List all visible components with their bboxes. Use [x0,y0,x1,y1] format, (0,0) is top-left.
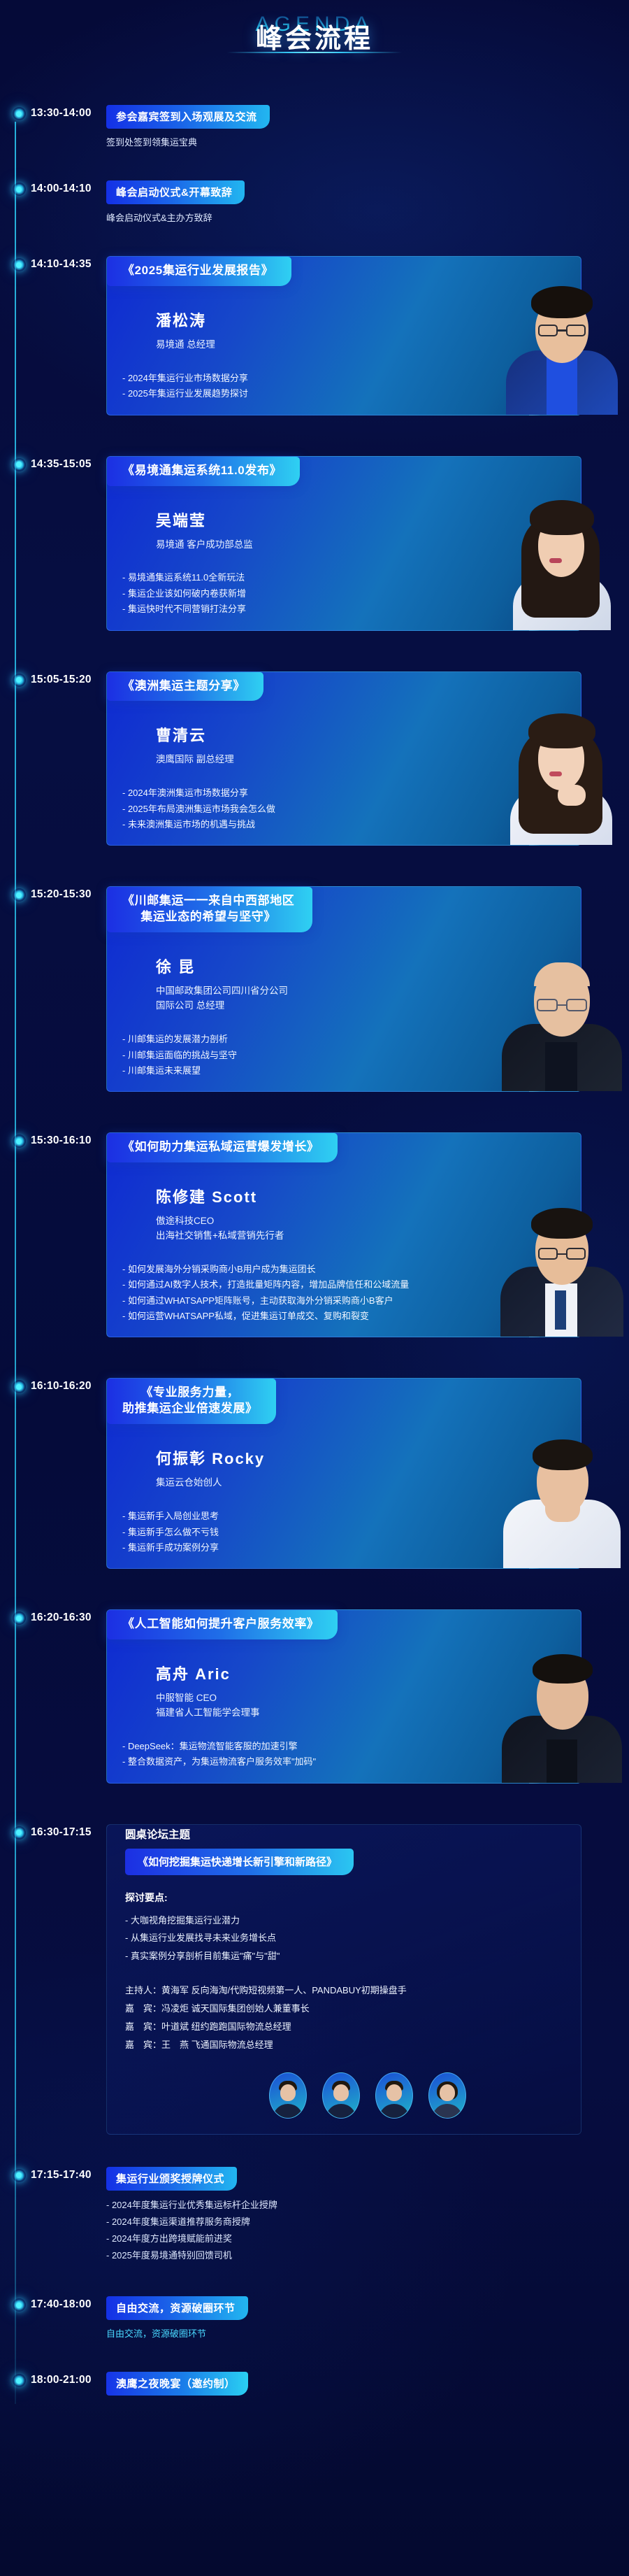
agenda-row-speaker[interactable]: 16:20-16:30 《人工智能如何提升客户服务效率》 高舟 Aric 中服智… [0,1609,629,1784]
agenda-time: 18:00-21:00 [31,2372,106,2386]
agenda-bullet: - 2024年度集运渠道推荐服务商授牌 [106,2214,629,2230]
agenda-time: 14:00-14:10 [31,180,106,195]
agenda-bullet: - 2024年度集运行业优秀集运标杆企业授牌 [106,2197,629,2214]
agenda-title-pill: 澳鹰之夜晚宴（邀约制） [106,2372,248,2396]
session-title: 《专业服务力量， 助推集运企业倍速发展》 [107,1379,276,1424]
session-bullet: - 2024年集运行业市场数据分享 [122,371,581,386]
roundtable-head: 圆桌论坛主题 [125,1825,581,1842]
agenda-row[interactable]: 14:00-14:10 峰会启动仪式&开幕致辞 峰会启动仪式&主办方致辞 [0,180,629,224]
session-bullet: - 川邮集运面临的挑战与坚守 [122,1048,581,1063]
agenda-time: 16:20-16:30 [31,1609,106,1624]
timeline-dot-wrap [7,256,31,271]
speaker-role: 澳鹰国际 副总经理 [107,753,581,767]
session-bullet: - 未来澳洲集运市场的机遇与挑战 [122,817,581,832]
speaker-role: 易境通 总经理 [107,338,581,353]
speaker-role: 易境通 客户成功部总监 [107,538,581,553]
timeline-dot-icon [13,674,26,687]
session-bullet: - 2025年集运行业发展趋势探讨 [122,386,581,401]
session-bullet: - 如何通过AI数字人技术，打造批量矩阵内容，增加品牌信任和公域流量 [122,1277,581,1293]
timeline-dot-wrap [7,1378,31,1393]
session-bullet: - 易境通集运系统11.0全新玩法 [122,570,581,585]
agenda-row[interactable]: 13:30-14:00 参会嘉宾签到入场观展及交流 签到处签到领集运宝典 [0,105,629,148]
timeline-dot-icon [13,888,26,902]
roundtable-person: 嘉 宾：冯凌炬 诚天国际集团创始人兼董事长 [125,2000,581,2018]
avatar-host [269,2072,307,2119]
session-title: 《澳洲集运主题分享》 [107,672,263,702]
agenda-row[interactable]: 17:40-18:00 自由交流，资源破圈环节 自由交流，资源破圈环节 [0,2296,629,2340]
agenda-row[interactable]: 17:15-17:40 集运行业颁奖授牌仪式 - 2024年度集运行业优秀集运标… [0,2167,629,2264]
timeline-dot-wrap [7,105,31,120]
session-bullet: - 川邮集运未来展望 [122,1063,581,1079]
session-bullet: - 如何通过WHATSAPP矩阵账号，主动获取海外分销采购商小B客户 [122,1293,581,1309]
session-bullet: - 集运新手怎么做不亏钱 [122,1525,581,1540]
session-bullet: - 如何运营WHATSAPP私域，促进集运订单成交、复购和裂变 [122,1309,581,1324]
roundtable-points-label: 探讨要点: [125,1891,581,1905]
roundtable-people: 主持人：黄海军 反向海淘/代购短视频第一人、PANDABUY初期操盘手 嘉 宾：… [125,1981,581,2054]
speaker-name: 曹清云 [107,723,581,746]
speaker-card: 《2025集运行业发展报告》 潘松涛 易境通 总经理 - 2024年集运行业市场… [106,256,581,415]
agenda-time: 17:40-18:00 [31,2296,106,2311]
agenda-timeline: 13:30-14:00 参会嘉宾签到入场观展及交流 签到处签到领集运宝典 14:… [0,105,629,2424]
session-bullets: - 2024年集运行业市场数据分享 - 2025年集运行业发展趋势探讨 [107,371,581,402]
roundtable-points: - 大咖视角挖掘集运行业潜力 - 从集运行业发展找寻未来业务增长点 - 真实案例… [125,1912,581,1965]
roundtable-point: - 从集运行业发展找寻未来业务增长点 [125,1929,581,1947]
agenda-time: 16:10-16:20 [31,1378,106,1393]
agenda-time: 15:20-15:30 [31,886,106,901]
session-bullets: - DeepSeek：集运物流智能客服的加速引擎 - 整合数据资产，为集运物流客… [107,1739,581,1770]
agenda-time: 14:10-14:35 [31,256,106,271]
session-bullet: - 集运新手成功案例分享 [122,1540,581,1556]
timeline-dot-wrap [7,180,31,196]
speaker-card: 《川邮集运一一来自中西部地区 集运业态的希望与坚守》 徐 昆 中国邮政集团公司四… [106,886,581,1092]
agenda-time: 17:15-17:40 [31,2167,106,2182]
timeline-dot-wrap [7,886,31,902]
roundtable-point: - 真实案例分享剖析目前集运"痛"与"甜" [125,1947,581,1965]
speaker-name: 陈修建 Scott [107,1185,581,1207]
timeline-dot-icon [13,107,26,120]
agenda-title-pill: 参会嘉宾签到入场观展及交流 [106,105,270,129]
agenda-row-speaker[interactable]: 15:05-15:20 《澳洲集运主题分享》 曹清云 澳鹰国际 副总经理 - 2… [0,671,629,846]
agenda-row-speaker[interactable]: 15:20-15:30 《川邮集运一一来自中西部地区 集运业态的希望与坚守》 徐… [0,886,629,1092]
avatar-guest-3 [428,2072,466,2119]
avatar-guest-2 [375,2072,413,2119]
timeline-dot-wrap [7,2296,31,2312]
speaker-role: 傲途科技CEO 出海社交销售+私域营销先行者 [107,1214,581,1244]
speaker-card: 《专业服务力量， 助推集运企业倍速发展》 何振彰 Rocky 集运云仓始创人 -… [106,1378,581,1569]
timeline-dot-wrap [7,2167,31,2182]
speaker-name: 潘松涛 [107,308,581,331]
agenda-subtitle: 自由交流，资源破圈环节 [106,2326,629,2340]
session-bullet: - 集运快时代不同营销打法分享 [122,602,581,617]
agenda-row-speaker[interactable]: 15:30-16:10 《如何助力集运私域运营爆发增长》 陈修建 Scott 傲… [0,1132,629,1337]
roundtable-avatars [269,2072,581,2119]
session-title: 《2025集运行业发展报告》 [107,257,291,286]
speaker-name: 吴端莹 [107,508,581,531]
speaker-card: 《易境通集运系统11.0发布》 吴端莹 易境通 客户成功部总监 - 易境通集运系… [106,456,581,631]
timeline-dot-wrap [7,2372,31,2387]
timeline-dot-icon [13,258,26,271]
session-bullet: - 2024年澳洲集运市场数据分享 [122,785,581,801]
timeline-dot-wrap [7,1824,31,1840]
roundtable-person: 主持人：黄海军 反向海淘/代购短视频第一人、PANDABUY初期操盘手 [125,1981,581,2000]
timeline-dot-icon [13,1611,26,1625]
timeline-dot-icon [13,2169,26,2182]
agenda-title-pill: 集运行业颁奖授牌仪式 [106,2167,237,2191]
timeline-dot-icon [13,183,26,196]
agenda-title-pill: 峰会启动仪式&开幕致辞 [106,180,245,204]
agenda-time: 16:30-17:15 [31,1824,106,1839]
session-bullet: - 整合数据资产，为集运物流客户服务效率"加码" [122,1754,581,1770]
timeline-dot-icon [13,2374,26,2387]
agenda-time: 13:30-14:00 [31,105,106,120]
agenda-row[interactable]: 18:00-21:00 澳鹰之夜晚宴（邀约制） [0,2372,629,2396]
session-bullet: - 集运新手入局创业思考 [122,1509,581,1524]
roundtable-card: 圆桌论坛主题 《如何挖掘集运快递增长新引擎和新路径》 探讨要点: - 大咖视角挖… [106,1824,581,2135]
session-bullet: - 2025年布局澳洲集运市场我会怎么做 [122,802,581,817]
speaker-card: 《如何助力集运私域运营爆发增长》 陈修建 Scott 傲途科技CEO 出海社交销… [106,1132,581,1337]
speaker-card: 《人工智能如何提升客户服务效率》 高舟 Aric 中服智能 CEO 福建省人工智… [106,1609,581,1784]
session-title: 《易境通集运系统11.0发布》 [107,457,300,486]
speaker-role: 中国邮政集团公司四川省分公司 国际公司 总经理 [107,984,581,1013]
roundtable-person: 嘉 宾：王 燕 飞通国际物流总经理 [125,2036,581,2054]
session-bullet: - 川邮集运的发展潜力剖析 [122,1032,581,1047]
session-bullets: - 川邮集运的发展潜力剖析 - 川邮集运面临的挑战与坚守 - 川邮集运未来展望 [107,1032,581,1079]
agenda-subtitle: 峰会启动仪式&主办方致辞 [106,211,629,224]
agenda-row-roundtable[interactable]: 16:30-17:15 圆桌论坛主题 《如何挖掘集运快递增长新引擎和新路径》 探… [0,1824,629,2135]
timeline-dot-wrap [7,1609,31,1625]
agenda-title-pill: 自由交流，资源破圈环节 [106,2296,248,2320]
timeline-dot-icon [13,1826,26,1840]
session-title: 《人工智能如何提升客户服务效率》 [107,1610,338,1639]
agenda-bullets: - 2024年度集运行业优秀集运标杆企业授牌 - 2024年度集运渠道推荐服务商… [106,2197,629,2264]
session-title: 《如何助力集运私域运营爆发增长》 [107,1133,338,1162]
roundtable-title: 《如何挖掘集运快递增长新引擎和新路径》 [125,1849,354,1875]
session-bullets: - 易境通集运系统11.0全新玩法 - 集运企业该如何破内卷获新增 - 集运快时… [107,570,581,617]
speaker-name: 徐 昆 [107,955,581,977]
timeline-dot-icon [13,1380,26,1393]
timeline-dot-wrap [7,1132,31,1148]
avatar-guest-1 [322,2072,360,2119]
session-bullet: - 如何发展海外分销采购商小B用户成为集运团长 [122,1262,581,1277]
title-underline [227,52,402,53]
speaker-card: 《澳洲集运主题分享》 曹清云 澳鹰国际 副总经理 - 2024年澳洲集运市场数据… [106,671,581,846]
speaker-role: 集运云仓始创人 [107,1476,581,1490]
speaker-role: 中服智能 CEO 福建省人工智能学会理事 [107,1691,581,1721]
timeline-dot-icon [13,458,26,471]
session-bullets: - 2024年澳洲集运市场数据分享 - 2025年布局澳洲集运市场我会怎么做 -… [107,785,581,832]
agenda-row-speaker[interactable]: 14:35-15:05 《易境通集运系统11.0发布》 吴端莹 易境通 客户成功… [0,456,629,631]
session-bullets: - 如何发展海外分销采购商小B用户成为集运团长 - 如何通过AI数字人技术，打造… [107,1262,581,1324]
session-bullet: - 集运企业该如何破内卷获新增 [122,586,581,602]
agenda-subtitle: 签到处签到领集运宝典 [106,135,629,148]
roundtable-point: - 大咖视角挖掘集运行业潜力 [125,1912,581,1929]
agenda-row-speaker[interactable]: 16:10-16:20 《专业服务力量， 助推集运企业倍速发展》 何振彰 Roc… [0,1378,629,1569]
speaker-name: 高舟 Aric [107,1662,581,1684]
agenda-time: 15:30-16:10 [31,1132,106,1147]
agenda-bullet: - 2024年度方出跨境赋能前进奖 [106,2230,629,2247]
roundtable-person: 嘉 宾：叶道斌 纽约跑跑国际物流总经理 [125,2018,581,2036]
timeline-dot-icon [13,1134,26,1148]
agenda-time: 15:05-15:20 [31,671,106,686]
page-header: AGENDA 峰会流程 [0,0,629,105]
session-bullets: - 集运新手入局创业思考 - 集运新手怎么做不亏钱 - 集运新手成功案例分享 [107,1509,581,1556]
page-title: 峰会流程 [0,17,629,55]
session-title: 《川邮集运一一来自中西部地区 集运业态的希望与坚守》 [107,887,312,932]
timeline-dot-wrap [7,456,31,471]
agenda-time: 14:35-15:05 [31,456,106,471]
agenda-row-speaker[interactable]: 14:10-14:35 《2025集运行业发展报告》 潘松涛 易境通 总经理 -… [0,256,629,415]
timeline-dot-wrap [7,671,31,687]
speaker-name: 何振彰 Rocky [107,1446,581,1469]
session-bullet: - DeepSeek：集运物流智能客服的加速引擎 [122,1739,581,1754]
timeline-dot-icon [13,2298,26,2312]
agenda-bullet: - 2025年度易境通特别回馈司机 [106,2247,629,2264]
